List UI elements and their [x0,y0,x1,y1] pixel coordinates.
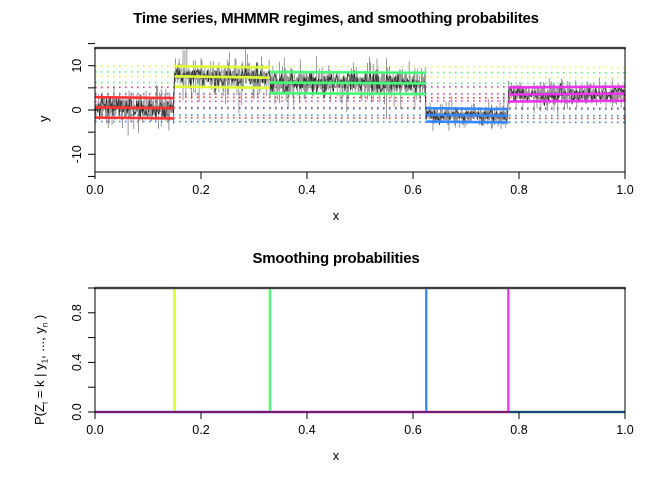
regime-4-solid-upper [426,108,508,109]
top-panel-canvas: 0.00.20.40.60.81.0-10010 [0,0,672,240]
xtick-label: 0.2 [192,423,209,437]
regime-3-solid-upper [270,72,426,73]
regime-1-solid-mean [95,107,175,108]
xtick-label: 0.8 [510,183,527,197]
regime-4-solid-lower [426,122,508,123]
bottom-panel-canvas: 0.00.20.40.60.81.00.00.40.8 [0,240,672,480]
xtick-label: 0.0 [86,423,103,437]
regime-2-solid-lower [175,87,270,88]
ytick-label: -10 [70,145,84,163]
xtick-label: 0.4 [298,423,315,437]
ytick-label: 0 [70,106,84,113]
ytick-label: 0.4 [70,354,84,371]
xtick-label: 0.6 [404,423,421,437]
xtick-label: 0.4 [298,183,315,197]
regime-4-dotted-mean [95,115,625,116]
panel-smoothing-probabilities: Smoothing probabilities x P(Zt = k | y1,… [0,240,672,480]
ytick-label: 0.8 [70,304,84,321]
regime-2-solid-upper [175,66,270,67]
xtick-label: 1.0 [616,423,633,437]
regime-2-solid-mean [175,76,270,77]
regime-5-solid-upper [508,87,625,88]
regime-5-solid-mean [508,94,625,95]
ytick-label: 0.0 [70,403,84,420]
prob-curve-regime-2 [95,288,625,412]
regime-5-solid-lower [508,101,625,102]
xtick-label: 0.6 [404,183,421,197]
panel-time-series: Time series, MHMMR regimes, and smoothin… [0,0,672,240]
xtick-label: 0.0 [86,183,103,197]
xtick-label: 0.2 [192,183,209,197]
top-plot-content [95,42,625,136]
xtick-label: 1.0 [616,183,633,197]
regime-3-solid-lower [270,93,426,94]
regime-3-solid-mean [270,83,426,84]
ytick-label: 10 [70,59,84,73]
regime-4-solid-mean [426,115,508,116]
xtick-label: 0.8 [510,423,527,437]
regime-1-solid-lower [95,118,175,119]
regime-1-solid-upper [95,97,175,98]
figure-root: Time series, MHMMR regimes, and smoothin… [0,0,672,480]
regime-4-dotted-upper [95,108,625,109]
regime-4-dotted-lower [95,122,625,123]
